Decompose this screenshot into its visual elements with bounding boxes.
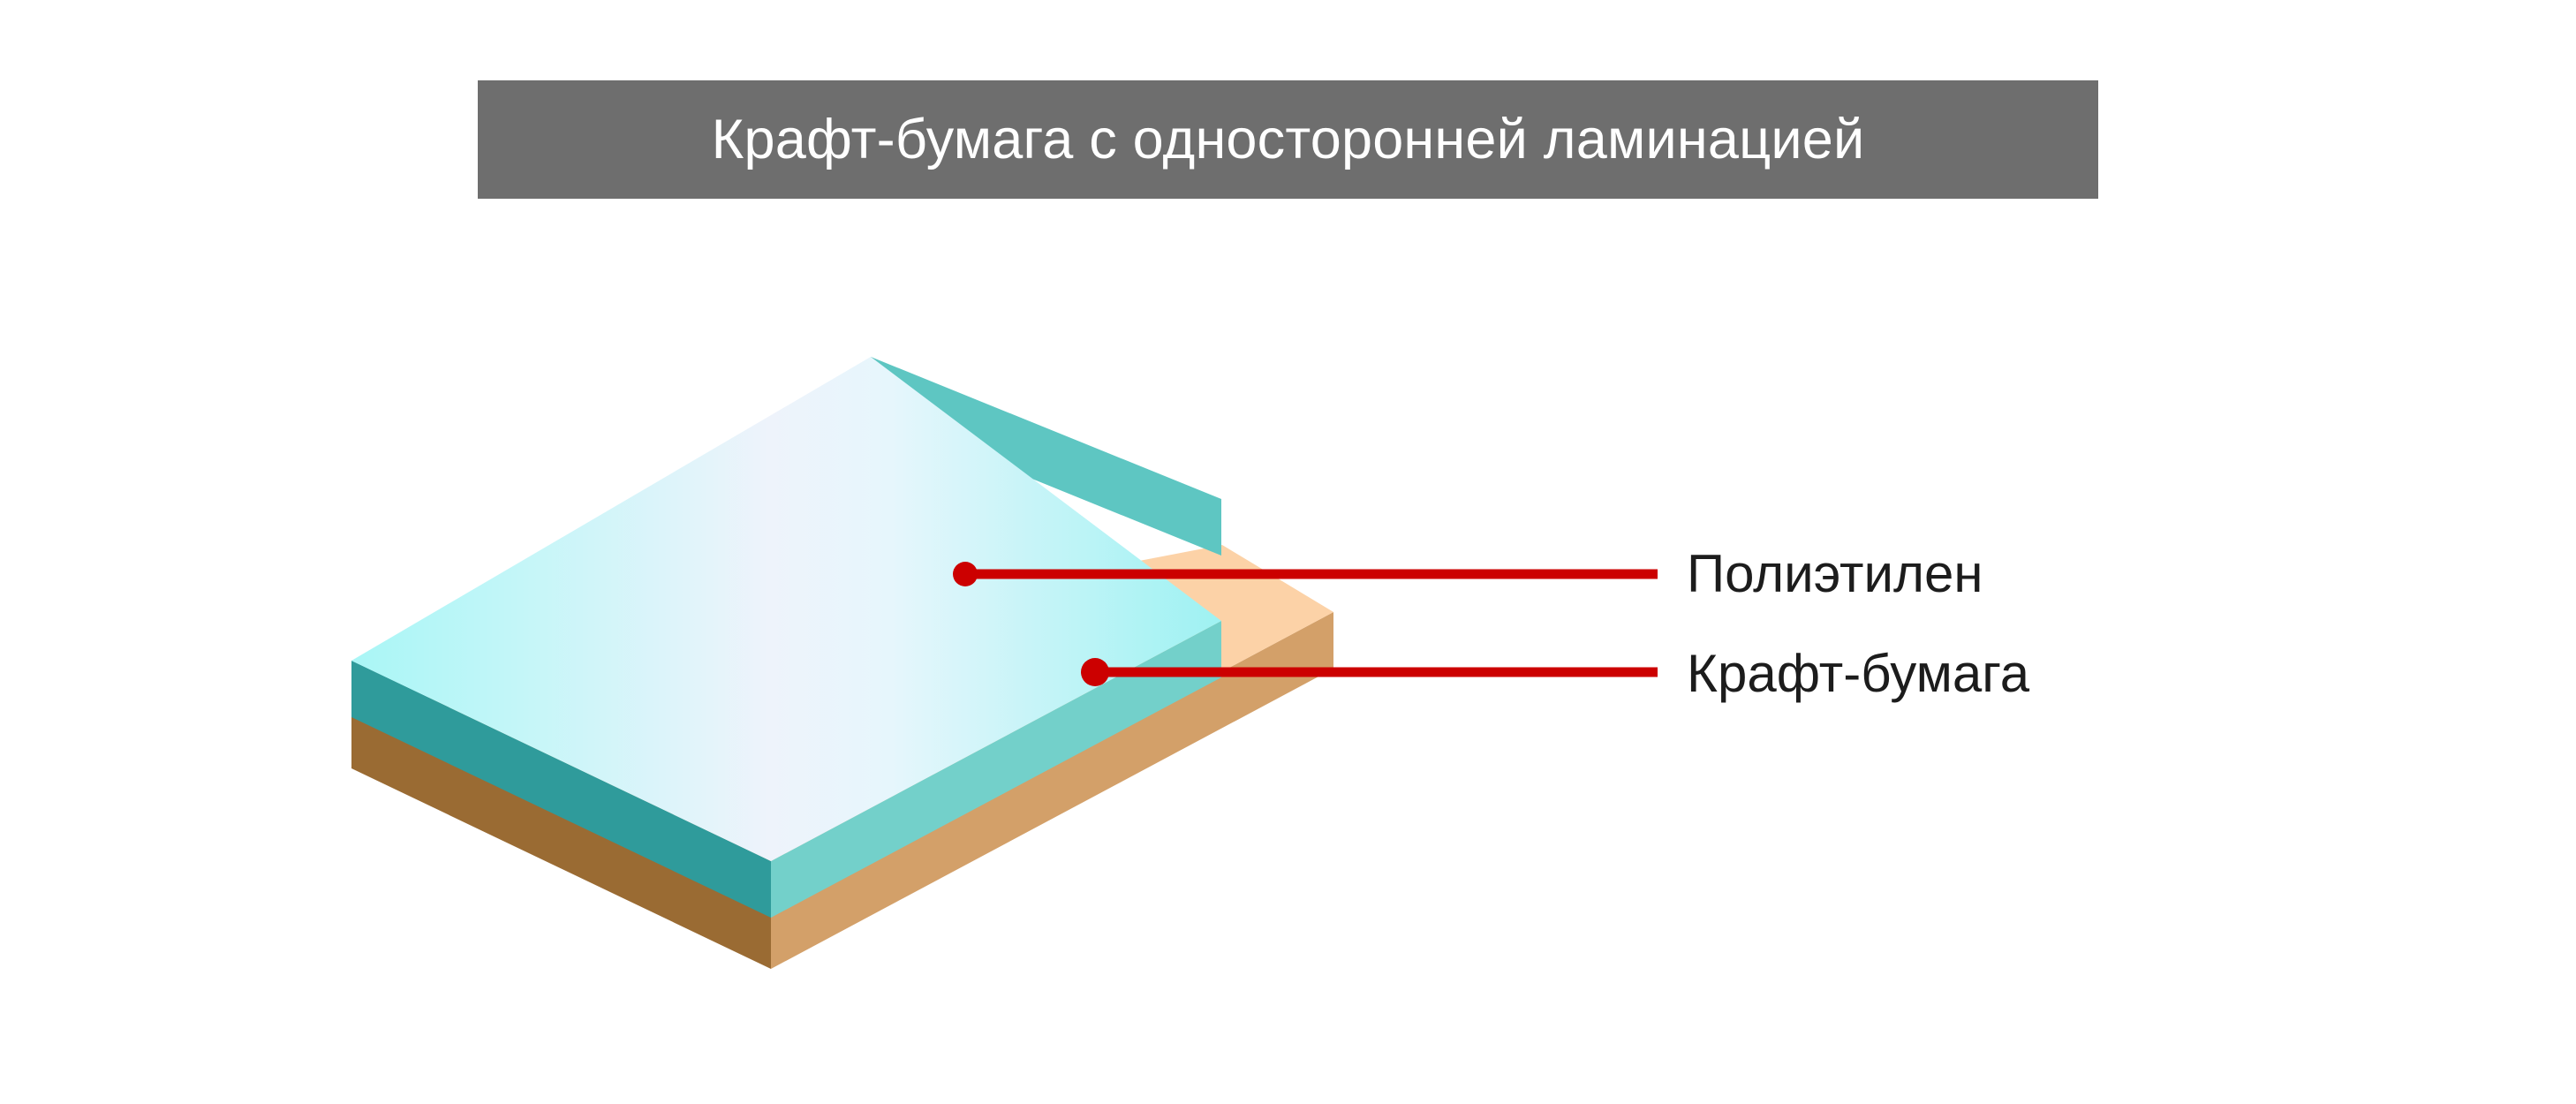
callout-dot-polyethylene [953, 562, 978, 586]
diagram-canvas: Крафт-бумага с односторонней ламинацией [0, 0, 2576, 1104]
callout-label-kraft-paper: Крафт-бумага [1687, 647, 2029, 700]
polyethylene-layer [351, 357, 1221, 918]
isometric-illustration [0, 0, 2576, 1104]
callout-dot-kraft-paper [1081, 658, 1109, 686]
callout-label-polyethylene: Полиэтилен [1687, 548, 1983, 601]
